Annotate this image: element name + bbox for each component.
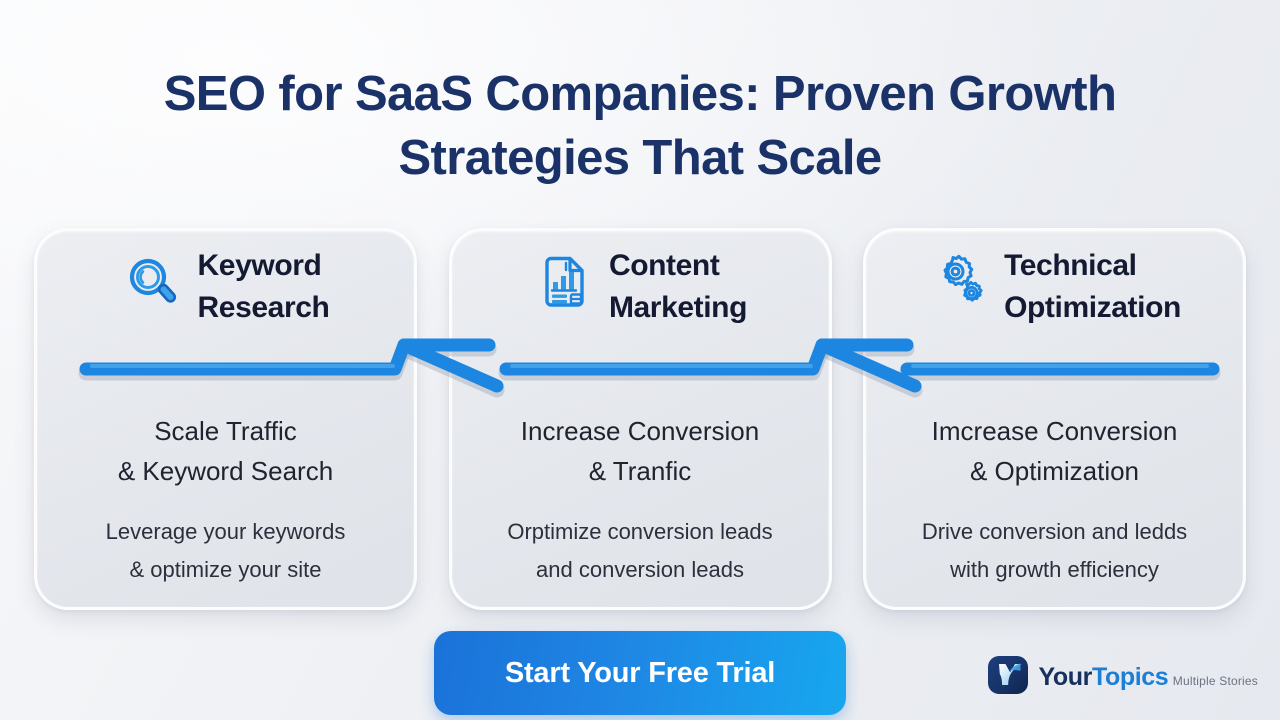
magnifying-glass-icon [122, 251, 184, 313]
card-subtitle-line-2: & Keyword Search [37, 451, 414, 491]
document-chart-icon [533, 251, 595, 313]
card-description-line-2: & optimize your site [37, 551, 414, 589]
feature-card-content-marketing[interactable]: Content Marketing Increase Conversion & … [449, 228, 832, 610]
page-title-line-1: SEO for SaaS Companies: Proven Growth [0, 62, 1280, 126]
card-subtitle: Imcrease Conversion & Optimization [866, 411, 1243, 491]
card-description: Drive conversion and ledds with growth e… [866, 513, 1243, 589]
card-title-line-1: Content [609, 245, 747, 287]
card-header: Technical Optimization [866, 245, 1243, 329]
card-title-line-1: Keyword [198, 245, 330, 287]
page-title: SEO for SaaS Companies: Proven Growth St… [0, 62, 1280, 190]
card-title-line-2: Marketing [609, 287, 747, 329]
feature-card-technical-optimization[interactable]: Technical Optimization Imcrease Conversi… [863, 228, 1246, 610]
card-title-line-1: Technical [1004, 245, 1181, 287]
card-subtitle: Increase Conversion & Tranfic [452, 411, 829, 491]
card-description: Leverage your keywords & optimize your s… [37, 513, 414, 589]
card-description-line-2: with growth efficiency [866, 551, 1243, 589]
card-description: Orptimize conversion leads and conversio… [452, 513, 829, 589]
feature-card-keyword-research[interactable]: Keyword Research Scale Traffic & Keyword… [34, 228, 417, 610]
card-title: Technical Optimization [1004, 245, 1181, 329]
feature-card-row: Keyword Research Scale Traffic & Keyword… [34, 228, 1246, 610]
logo-name: YourTopics [1039, 663, 1169, 691]
card-subtitle: Scale Traffic & Keyword Search [37, 411, 414, 491]
card-subtitle-line-1: Scale Traffic [37, 411, 414, 451]
card-subtitle-line-2: & Optimization [866, 451, 1243, 491]
card-title-line-2: Optimization [1004, 287, 1181, 329]
gears-icon [928, 251, 990, 313]
card-title: Content Marketing [609, 245, 747, 329]
page-title-line-2: Strategies That Scale [0, 126, 1280, 190]
card-title-line-2: Research [198, 287, 330, 329]
logo-name-part-1: Your [1039, 663, 1093, 691]
card-header: Keyword Research [37, 245, 414, 329]
card-subtitle-line-1: Imcrease Conversion [866, 411, 1243, 451]
card-header: Content Marketing [452, 245, 829, 329]
card-description-line-2: and conversion leads [452, 551, 829, 589]
card-subtitle-line-2: & Tranfic [452, 451, 829, 491]
card-subtitle-line-1: Increase Conversion [452, 411, 829, 451]
logo-tagline: Multiple Stories [1173, 674, 1258, 688]
card-description-line-1: Drive conversion and ledds [866, 513, 1243, 551]
yourtopics-logo-mark-icon [986, 653, 1030, 702]
card-title: Keyword Research [198, 245, 330, 329]
brand-logo[interactable]: YourTopics Multiple Stories [986, 653, 1259, 702]
card-description-line-1: Leverage your keywords [37, 513, 414, 551]
logo-text: YourTopics Multiple Stories [1039, 665, 1259, 690]
logo-name-part-2: Topics [1092, 663, 1168, 691]
card-description-line-1: Orptimize conversion leads [452, 513, 829, 551]
start-free-trial-button[interactable]: Start Your Free Trial [434, 631, 846, 715]
